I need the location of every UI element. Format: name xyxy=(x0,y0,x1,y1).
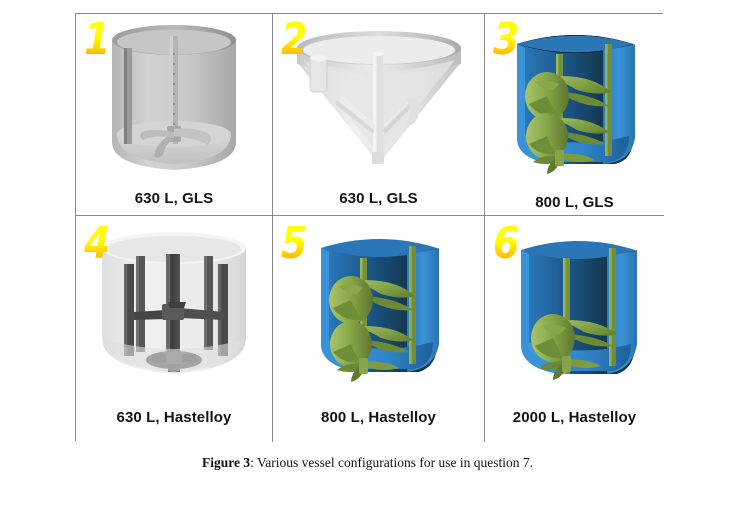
figure-cell-2[interactable]: 2 xyxy=(273,14,485,216)
cell-label-6: 2000 L, Hastelloy xyxy=(513,409,636,442)
cell-number-badge-3: 3 xyxy=(493,18,518,62)
figure-grid: 1 xyxy=(75,13,663,441)
cell-label-4: 630 L, Hastelloy xyxy=(117,409,232,442)
cell-number-badge-1: 1 xyxy=(84,18,109,62)
cell-number-badge-5: 5 xyxy=(281,222,306,266)
cell-label-2: 630 L, GLS xyxy=(339,190,418,215)
figure-cell-5[interactable]: 5 xyxy=(273,216,485,442)
figure-cell-1[interactable]: 1 xyxy=(76,14,273,216)
cell-number-badge-6: 6 xyxy=(493,222,518,266)
figure-caption-label: Figure 3 xyxy=(202,455,250,470)
figure-cell-4[interactable]: 4 xyxy=(76,216,273,442)
figure-caption: Figure 3: Various vessel configurations … xyxy=(0,455,735,471)
figure-caption-text: Various vessel configurations for use in… xyxy=(257,455,533,470)
cell-number-badge-4: 4 xyxy=(84,222,109,266)
cell-label-3: 800 L, GLS xyxy=(535,194,614,215)
document-page: 1 xyxy=(0,0,735,505)
cell-label-1: 630 L, GLS xyxy=(135,190,214,215)
figure-cell-3[interactable]: 3 xyxy=(485,14,664,216)
cell-number-badge-2: 2 xyxy=(281,18,306,62)
cell-label-5: 800 L, Hastelloy xyxy=(321,409,436,442)
figure-cell-6[interactable]: 6 xyxy=(485,216,664,442)
figure-caption-separator: : xyxy=(250,455,257,470)
